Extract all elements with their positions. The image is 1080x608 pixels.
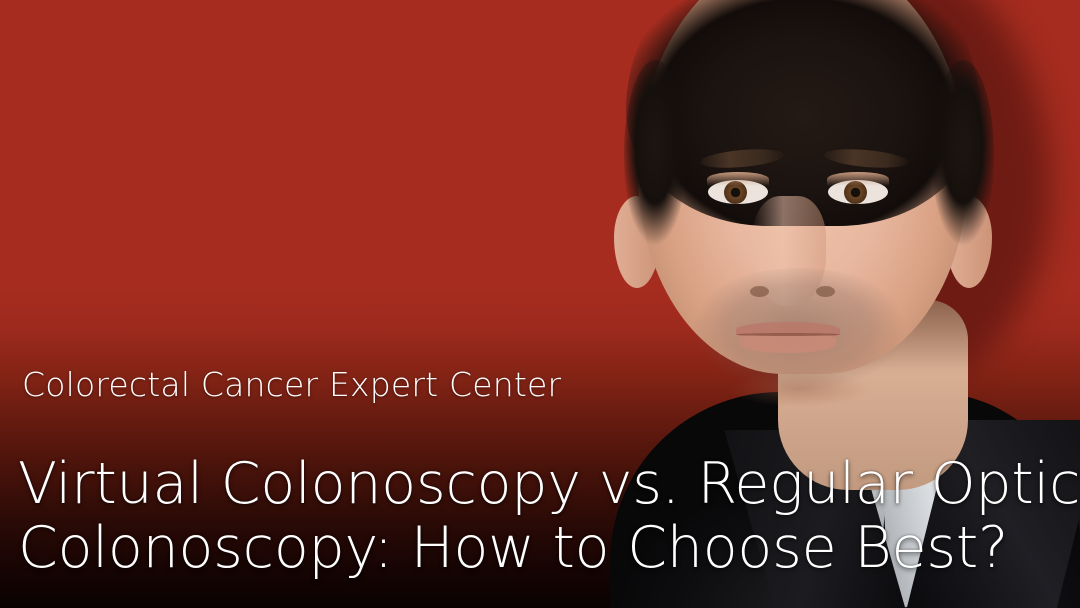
video-title-line-1: Virtual Colonoscopy vs. Regular Optical	[18, 452, 1080, 516]
channel-subtitle: Colorectal Cancer Expert Center	[22, 368, 561, 401]
video-title: Virtual Colonoscopy vs. Regular Optical …	[18, 452, 1080, 580]
video-title-card: Colorectal Cancer Expert Center Virtual …	[0, 0, 1080, 608]
text-overlay: Colorectal Cancer Expert Center Virtual …	[0, 0, 1080, 608]
video-title-line-2: Colonoscopy: How to Choose Best?	[18, 516, 1080, 580]
